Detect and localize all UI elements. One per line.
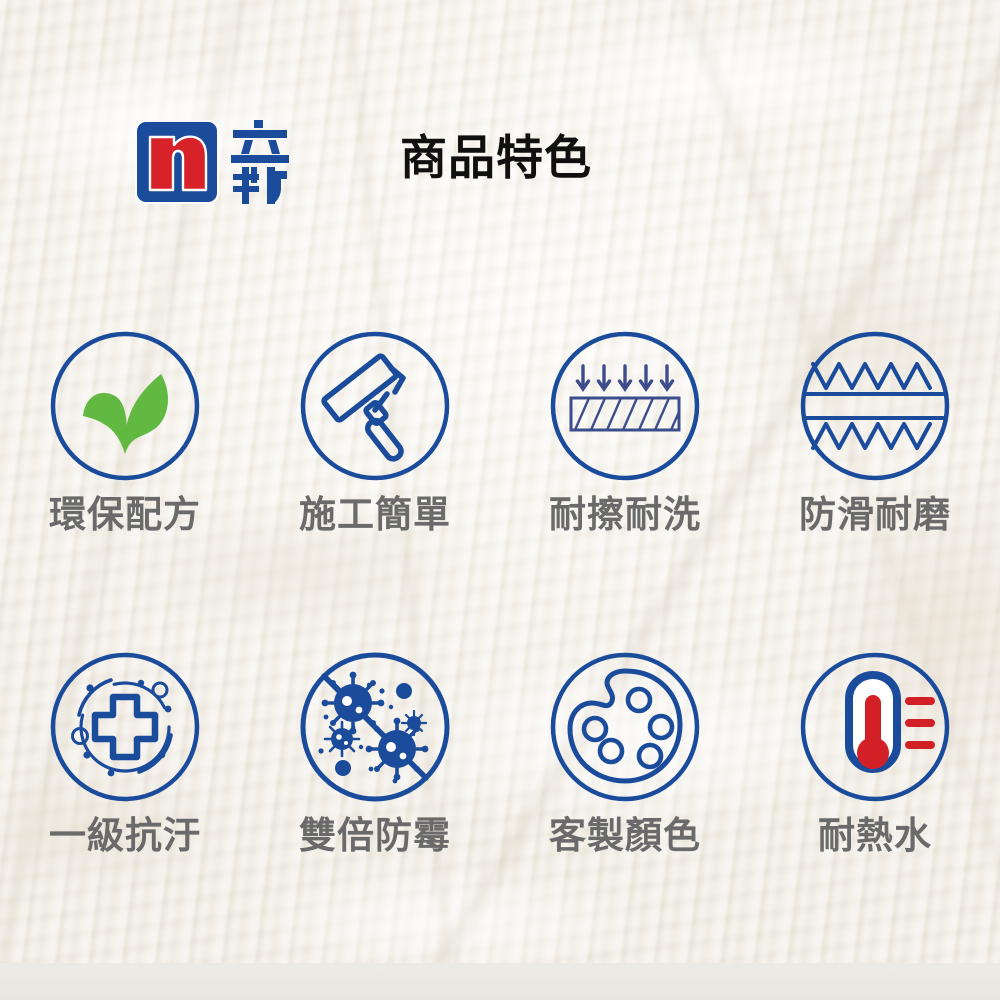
shield-cross-icon bbox=[49, 651, 201, 803]
feature-anti-slip-wear[interactable]: 防滑耐磨 bbox=[750, 330, 1000, 535]
feature-label: 環保配方 bbox=[49, 496, 201, 535]
zigzag-layers-icon bbox=[799, 330, 951, 482]
feature-hot-water-proof[interactable]: 耐熱水 bbox=[750, 651, 1000, 856]
feature-stain-resistant[interactable]: 一級抗汙 bbox=[0, 651, 250, 856]
feature-custom-color[interactable]: 客製顏色 bbox=[500, 651, 750, 856]
arrows-on-hatched-surface-icon bbox=[549, 330, 701, 482]
feature-eco-formula[interactable]: 環保配方 bbox=[0, 330, 250, 535]
paint-roller-icon bbox=[299, 330, 451, 482]
feature-label: 耐熱水 bbox=[818, 817, 932, 856]
product-features-poster: 商品特色 環保配方 bbox=[0, 0, 1000, 1000]
feature-label: 施工簡單 bbox=[299, 496, 451, 535]
leaves-check-icon bbox=[49, 330, 201, 482]
background-bottom-edge bbox=[0, 963, 1000, 1000]
nippon-paint-logo bbox=[133, 118, 291, 206]
feature-scrub-washable[interactable]: 耐擦耐洗 bbox=[500, 330, 750, 535]
logo-wordmark-icon bbox=[229, 118, 291, 206]
feature-label: 耐擦耐洗 bbox=[549, 496, 701, 535]
paint-palette-icon bbox=[549, 651, 701, 803]
feature-row-1: 環保配方 施工簡單 bbox=[0, 330, 1000, 535]
no-germs-icon bbox=[299, 651, 451, 803]
poster-header: 商品特色 bbox=[0, 112, 1000, 212]
thermometer-icon bbox=[799, 651, 951, 803]
feature-label: 客製顏色 bbox=[549, 817, 701, 856]
feature-label: 防滑耐磨 bbox=[799, 496, 951, 535]
feature-row-2: 一級抗汙 bbox=[0, 651, 1000, 856]
feature-label: 一級抗汙 bbox=[49, 817, 201, 856]
page-title: 商品特色 bbox=[400, 134, 592, 181]
feature-label: 雙倍防霉 bbox=[299, 817, 451, 856]
feature-anti-mold[interactable]: 雙倍防霉 bbox=[250, 651, 500, 856]
logo-n-mark-icon bbox=[133, 118, 221, 206]
feature-easy-application[interactable]: 施工簡單 bbox=[250, 330, 500, 535]
feature-grid: 環保配方 施工簡單 bbox=[0, 330, 1000, 856]
